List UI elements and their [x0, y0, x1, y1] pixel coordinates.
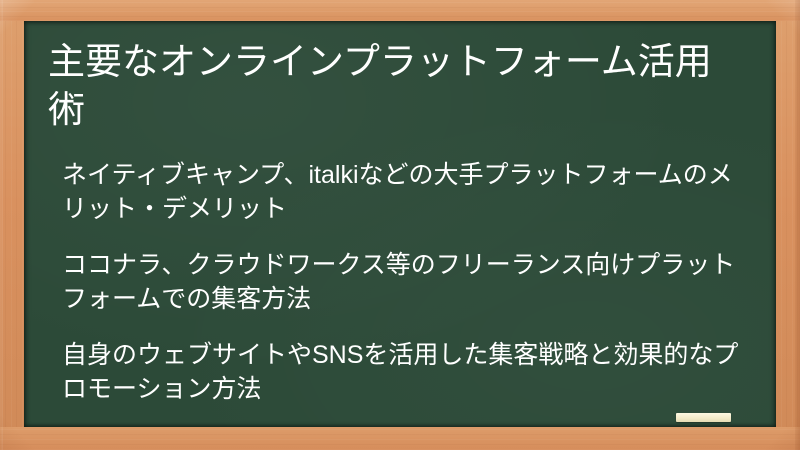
- frame-left-edge: [0, 0, 3, 450]
- wooden-frame-bottom-ledge: [0, 427, 800, 450]
- bullet-item: 自身のウェブサイトやSNSを活用した集客戦略と効果的なプロモーション方法: [62, 338, 744, 406]
- chalkboard-surface: 主要なオンラインプラットフォーム活用術 ネイティブキャンプ、italkiなどの大…: [24, 21, 776, 427]
- frame-right-edge: [795, 0, 800, 450]
- chalkboard-slide: 主要なオンラインプラットフォーム活用術 ネイティブキャンプ、italkiなどの大…: [0, 0, 800, 450]
- chalk-stick-icon: [676, 413, 731, 422]
- slide-bullet-list: ネイティブキャンプ、italkiなどの大手プラットフォームのメリット・デメリット…: [38, 158, 754, 406]
- bullet-item: ココナラ、クラウドワークス等のフリーランス向けプラットフォームでの集客方法: [62, 248, 744, 316]
- bullet-item: ネイティブキャンプ、italkiなどの大手プラットフォームのメリット・デメリット: [62, 158, 744, 226]
- wooden-frame-top-rail: [0, 0, 800, 21]
- slide-title: 主要なオンラインプラットフォーム活用術: [38, 38, 754, 134]
